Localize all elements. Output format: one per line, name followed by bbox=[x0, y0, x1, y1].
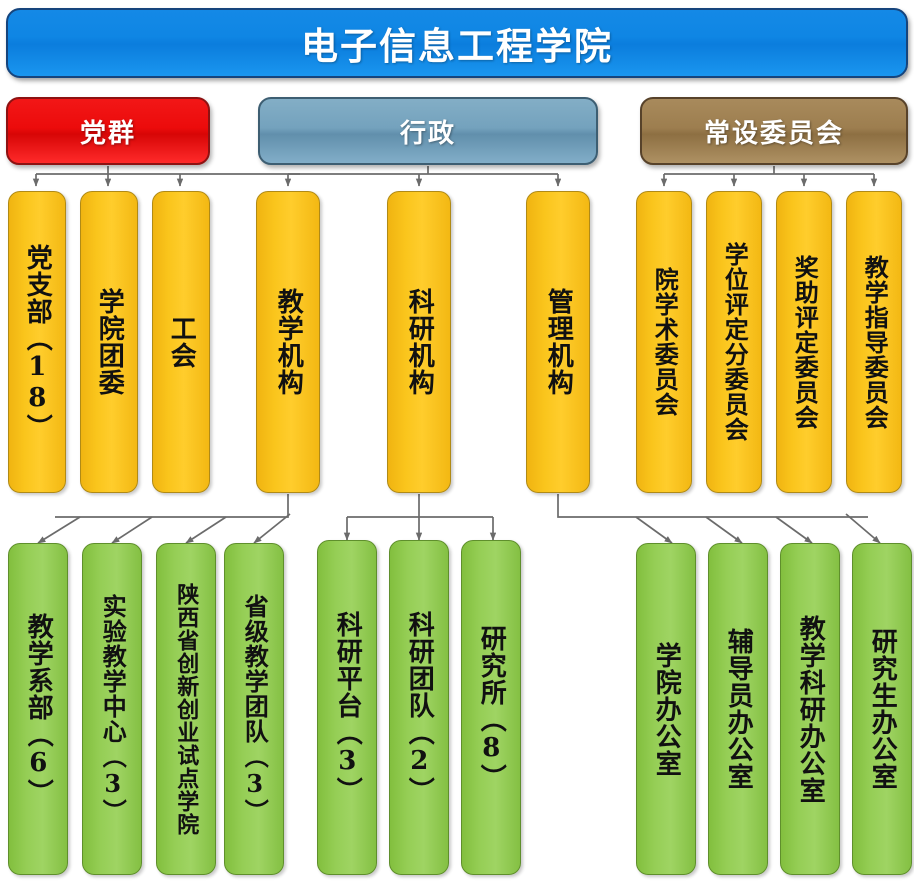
node-research-institutes[interactable]: 研究所（8） bbox=[461, 540, 521, 875]
node-research-org-label: 科研机构 bbox=[406, 288, 433, 396]
node-teaching-departments[interactable]: 教学系部（6） bbox=[8, 543, 68, 875]
branch-header-party-label: 党群 bbox=[80, 113, 136, 150]
node-provincial-teaching-team[interactable]: 省级教学团队（3） bbox=[224, 543, 284, 875]
node-teaching-departments-label: 教学系部（6） bbox=[25, 613, 52, 806]
node-provincial-teaching-team-label: 省级教学团队（3） bbox=[242, 594, 266, 824]
node-degree-committee[interactable]: 学位评定分委员会 bbox=[706, 191, 762, 493]
node-youth-league-label: 学院团委 bbox=[96, 288, 123, 396]
node-party-branch[interactable]: 党支部（18） bbox=[8, 191, 66, 493]
node-management-org[interactable]: 管理机构 bbox=[526, 191, 590, 493]
node-research-team[interactable]: 科研团队（2） bbox=[389, 540, 449, 875]
node-counselor-office[interactable]: 辅导员办公室 bbox=[708, 543, 768, 875]
node-college-office[interactable]: 学院办公室 bbox=[636, 543, 696, 875]
node-college-office-label: 学院办公室 bbox=[653, 642, 680, 777]
branch-header-admin[interactable]: 行政 bbox=[258, 97, 598, 165]
node-teaching-research-office[interactable]: 教学科研办公室 bbox=[780, 543, 840, 875]
node-graduate-office[interactable]: 研究生办公室 bbox=[852, 543, 912, 875]
node-management-org-label: 管理机构 bbox=[545, 288, 572, 396]
branch-header-admin-label: 行政 bbox=[400, 113, 456, 150]
node-scholarship-committee-label: 奖助评定委员会 bbox=[792, 255, 816, 430]
node-research-org[interactable]: 科研机构 bbox=[387, 191, 451, 493]
wire-mgmt-1 bbox=[636, 517, 672, 543]
branch-header-committees[interactable]: 常设委员会 bbox=[640, 97, 908, 165]
root-node-college[interactable]: 电子信息工程学院 bbox=[6, 8, 908, 78]
wire-teach-2 bbox=[112, 517, 152, 543]
node-research-institutes-label: 研究所（8） bbox=[478, 625, 505, 791]
node-teaching-guidance-committee[interactable]: 教学指导委员会 bbox=[846, 191, 902, 493]
node-experimental-teaching-center-label: 实验教学中心（3） bbox=[100, 594, 124, 824]
org-chart: 电子信息工程学院 党群 行政 常设委员会 党支部（18） 学院团委 工会 教学机… bbox=[0, 0, 914, 883]
node-youth-league[interactable]: 学院团委 bbox=[80, 191, 138, 493]
wire-teach-3 bbox=[186, 517, 226, 543]
node-research-platform[interactable]: 科研平台（3） bbox=[317, 540, 377, 875]
wire-teach-4 bbox=[254, 514, 290, 543]
node-teaching-guidance-committee-label: 教学指导委员会 bbox=[862, 255, 886, 430]
node-innovation-pilot-college-label: 陕西省创新创业试点学院 bbox=[175, 583, 197, 836]
branch-header-party[interactable]: 党群 bbox=[6, 97, 210, 165]
node-counselor-office-label: 辅导员办公室 bbox=[725, 628, 752, 790]
node-labor-union[interactable]: 工会 bbox=[152, 191, 210, 493]
node-teaching-research-office-label: 教学科研办公室 bbox=[797, 615, 824, 804]
node-innovation-pilot-college[interactable]: 陕西省创新创业试点学院 bbox=[156, 543, 216, 875]
root-node-label: 电子信息工程学院 bbox=[301, 16, 613, 70]
wire-teach-bus bbox=[55, 494, 288, 517]
wire-teach-1 bbox=[38, 517, 80, 543]
node-academic-committee[interactable]: 院学术委员会 bbox=[636, 191, 692, 493]
node-research-platform-label: 科研平台（3） bbox=[334, 611, 361, 804]
node-research-team-label: 科研团队（2） bbox=[406, 611, 433, 804]
node-party-branch-label: 党支部（18） bbox=[24, 244, 51, 441]
node-labor-union-label: 工会 bbox=[168, 315, 195, 369]
node-graduate-office-label: 研究生办公室 bbox=[869, 628, 896, 790]
wire-mgmt-4 bbox=[846, 514, 880, 543]
wire-mgmt-bus bbox=[558, 494, 868, 517]
node-scholarship-committee[interactable]: 奖助评定委员会 bbox=[776, 191, 832, 493]
node-teaching-org[interactable]: 教学机构 bbox=[256, 191, 320, 493]
branch-header-committees-label: 常设委员会 bbox=[704, 113, 844, 150]
wire-mgmt-3 bbox=[776, 517, 812, 543]
node-academic-committee-label: 院学术委员会 bbox=[652, 267, 676, 417]
wire-mgmt-2 bbox=[706, 517, 742, 543]
node-teaching-org-label: 教学机构 bbox=[275, 288, 302, 396]
node-degree-committee-label: 学位评定分委员会 bbox=[722, 242, 746, 442]
node-experimental-teaching-center[interactable]: 实验教学中心（3） bbox=[82, 543, 142, 875]
